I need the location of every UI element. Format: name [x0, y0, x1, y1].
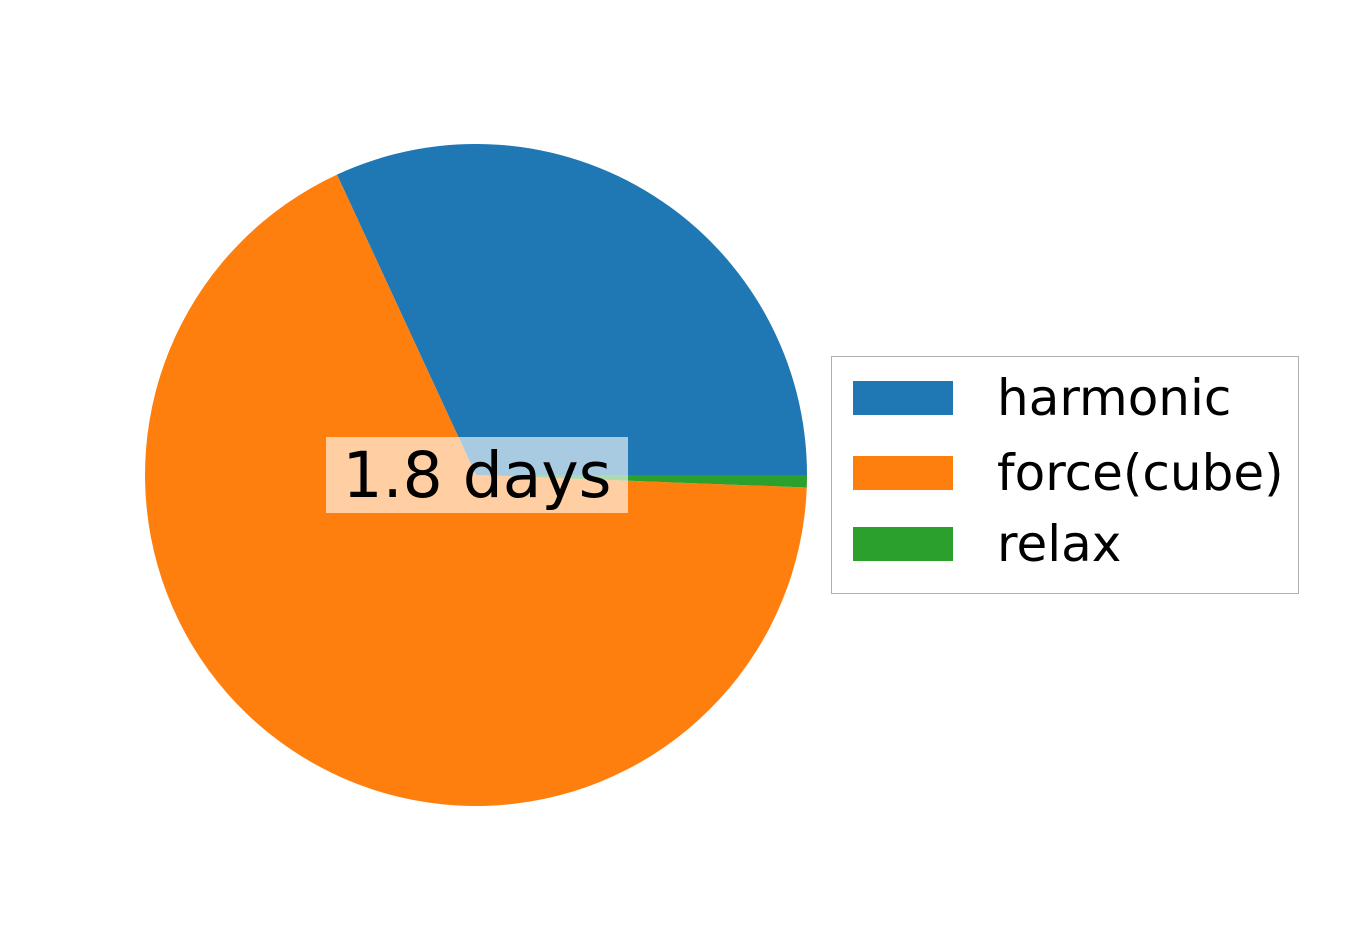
legend-box: harmonic force(cube) relax: [831, 356, 1299, 594]
figure-canvas: 1.8 days harmonic force(cube) relax: [0, 0, 1359, 951]
legend-label-harmonic: harmonic: [997, 373, 1231, 423]
legend-entry-harmonic[interactable]: harmonic: [853, 381, 1231, 415]
legend-label-force-cube: force(cube): [997, 448, 1284, 498]
legend-swatch-force-cube: [853, 456, 953, 490]
legend-swatch-relax: [853, 527, 953, 561]
pie-center-label: 1.8 days: [326, 437, 628, 513]
legend-entry-force-cube[interactable]: force(cube): [853, 456, 1284, 490]
legend-entry-relax[interactable]: relax: [853, 527, 1121, 561]
legend-swatch-harmonic: [853, 381, 953, 415]
pie-center-label-text: 1.8 days: [343, 444, 612, 507]
legend-label-relax: relax: [997, 519, 1121, 569]
